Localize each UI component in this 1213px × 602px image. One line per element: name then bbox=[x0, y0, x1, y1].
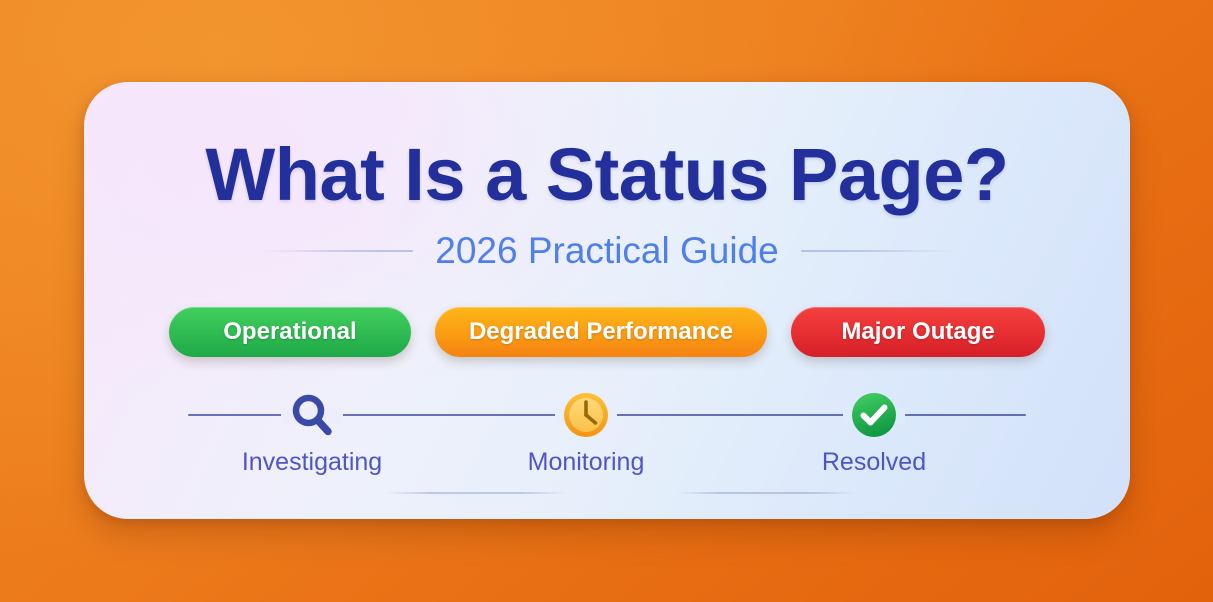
magnifying-glass-icon bbox=[285, 388, 339, 442]
check-circle-icon bbox=[847, 388, 901, 442]
clock-icon bbox=[559, 388, 613, 442]
status-page-infographic-card: What Is a Status Page? 2026 Practical Gu… bbox=[84, 82, 1130, 519]
status-pill-group: Operational Degraded Performance Major O… bbox=[84, 307, 1130, 357]
status-badge-major-outage[interactable]: Major Outage bbox=[791, 307, 1045, 357]
status-badge-degraded-performance[interactable]: Degraded Performance bbox=[435, 307, 767, 357]
timeline-stage-label: Resolved bbox=[822, 448, 926, 477]
subtitle-row: 2026 Practical Guide bbox=[84, 230, 1130, 272]
subtitle-rule-left bbox=[261, 250, 413, 252]
status-badge-operational[interactable]: Operational bbox=[169, 307, 411, 357]
timeline-stage-resolved[interactable]: Resolved bbox=[809, 402, 939, 477]
timeline-label-connector bbox=[676, 492, 856, 494]
timeline-stage-monitoring[interactable]: Monitoring bbox=[521, 402, 651, 477]
timeline-stage-label: Investigating bbox=[242, 448, 382, 477]
timeline-label-connector bbox=[386, 492, 566, 494]
subtitle-rule-right bbox=[801, 250, 953, 252]
timeline-stage-label: Monitoring bbox=[528, 448, 645, 477]
incident-timeline: Investigating bbox=[188, 402, 1026, 502]
timeline-stage-investigating[interactable]: Investigating bbox=[247, 402, 377, 477]
page-title: What Is a Status Page? bbox=[84, 132, 1130, 217]
page-subtitle: 2026 Practical Guide bbox=[435, 230, 778, 272]
